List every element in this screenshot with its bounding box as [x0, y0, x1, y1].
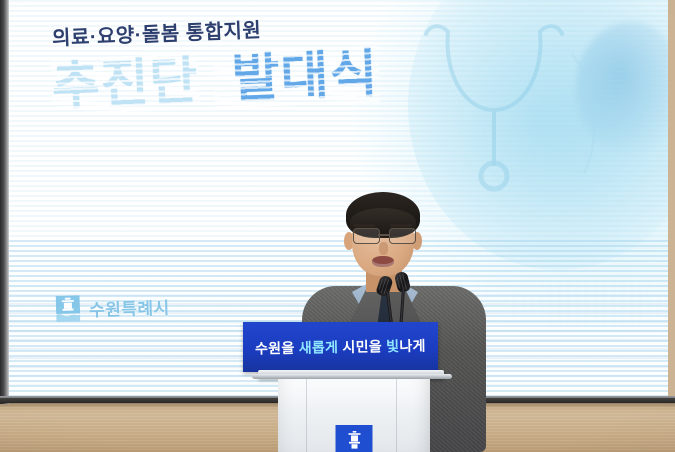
pavilion-tower-icon: [56, 295, 81, 322]
eyeglass-bridge: [378, 234, 389, 236]
podium-slogan-part3: 나게: [399, 338, 426, 354]
banner-title-strong: 발대식: [231, 45, 380, 109]
eyeglass-lens-left: [353, 228, 380, 244]
podium-seam-left: [306, 379, 307, 452]
podium-body: [278, 379, 430, 452]
podium-slogan: 수원을 새롭게 시민을 빛나게: [255, 336, 426, 359]
speaker-nose: [379, 242, 388, 255]
podium-seam-right: [396, 379, 397, 452]
podium-slogan-part2: 시민을: [338, 338, 386, 355]
screen-frame-left: [0, 0, 9, 404]
podium-slogan-part1: 수원을: [255, 340, 299, 357]
eyeglasses-icon: [352, 228, 415, 243]
banner-title: 추진단 발대식: [51, 41, 493, 115]
banner-title-light-wrap: 추진단: [51, 53, 200, 115]
pavilion-tower-icon: [342, 430, 366, 450]
speaker-brow-left: [353, 224, 375, 227]
banner-title-light: 추진단: [51, 52, 200, 116]
city-logo: 수원특례시: [56, 293, 170, 322]
city-logo-name: 수원특례시: [89, 293, 170, 320]
eyeglass-lens-right: [389, 228, 416, 244]
podium-emblem: [336, 425, 373, 452]
banner-text-block: 의료·요양·돌봄 통합지원 추진단 발대식: [52, 22, 492, 115]
podium-sign: 수원을 새롭게 시민을 빛나게: [243, 322, 438, 372]
speaker-brow-right: [390, 224, 412, 227]
podium-slogan-highlight2: 빛: [386, 338, 399, 354]
speaker-mouth: [372, 256, 394, 267]
podium-slogan-highlight1: 새롭게: [299, 339, 339, 356]
photo-scene: 의료·요양·돌봄 통합지원 추진단 발대식: [0, 0, 675, 452]
banner-title-strong-wrap: 발대식: [213, 46, 380, 109]
